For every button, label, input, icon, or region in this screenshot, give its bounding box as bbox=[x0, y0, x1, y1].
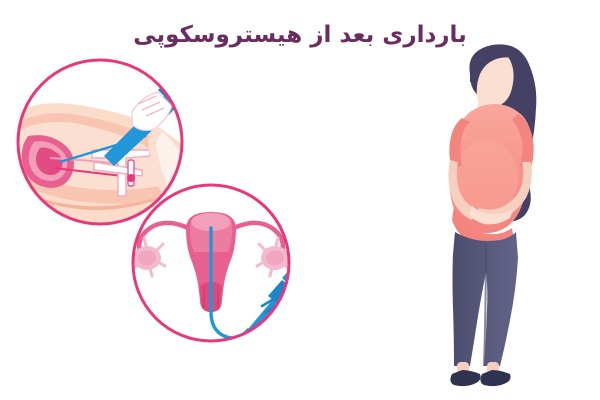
medical-illustration bbox=[0, 0, 600, 400]
hysteroscope-eyepiece bbox=[176, 52, 206, 78]
uterus-hysteroscope-circle bbox=[125, 185, 320, 344]
speculum-knob bbox=[127, 174, 135, 182]
illustration-canvas: بارداری بعد از هیستروسکوپی bbox=[0, 0, 600, 400]
scope-eyepiece bbox=[296, 248, 320, 270]
pregnant-woman bbox=[448, 44, 536, 386]
shoe-right bbox=[480, 370, 510, 386]
shoe-left bbox=[450, 370, 480, 386]
speculum-screw bbox=[128, 160, 134, 186]
